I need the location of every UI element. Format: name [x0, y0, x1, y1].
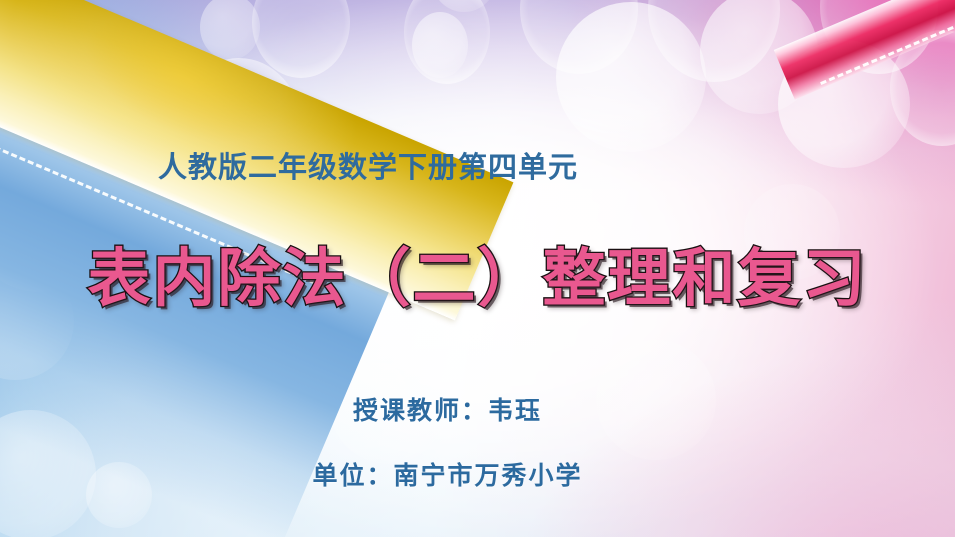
teacher-info-line: 授课教师：韦珏	[0, 391, 955, 427]
slide-subtitle: 人教版二年级数学下册第四单元	[158, 144, 578, 186]
slide-main-title: 表内除法（二）整理和复习	[0, 228, 955, 319]
slide-text-content: 人教版二年级数学下册第四单元 表内除法（二）整理和复习 授课教师：韦珏 单位：南…	[0, 0, 955, 537]
title-slide: 人教版二年级数学下册第四单元 表内除法（二）整理和复习 授课教师：韦珏 单位：南…	[0, 0, 955, 537]
school-info-line: 单位：南宁市万秀小学	[0, 456, 955, 492]
